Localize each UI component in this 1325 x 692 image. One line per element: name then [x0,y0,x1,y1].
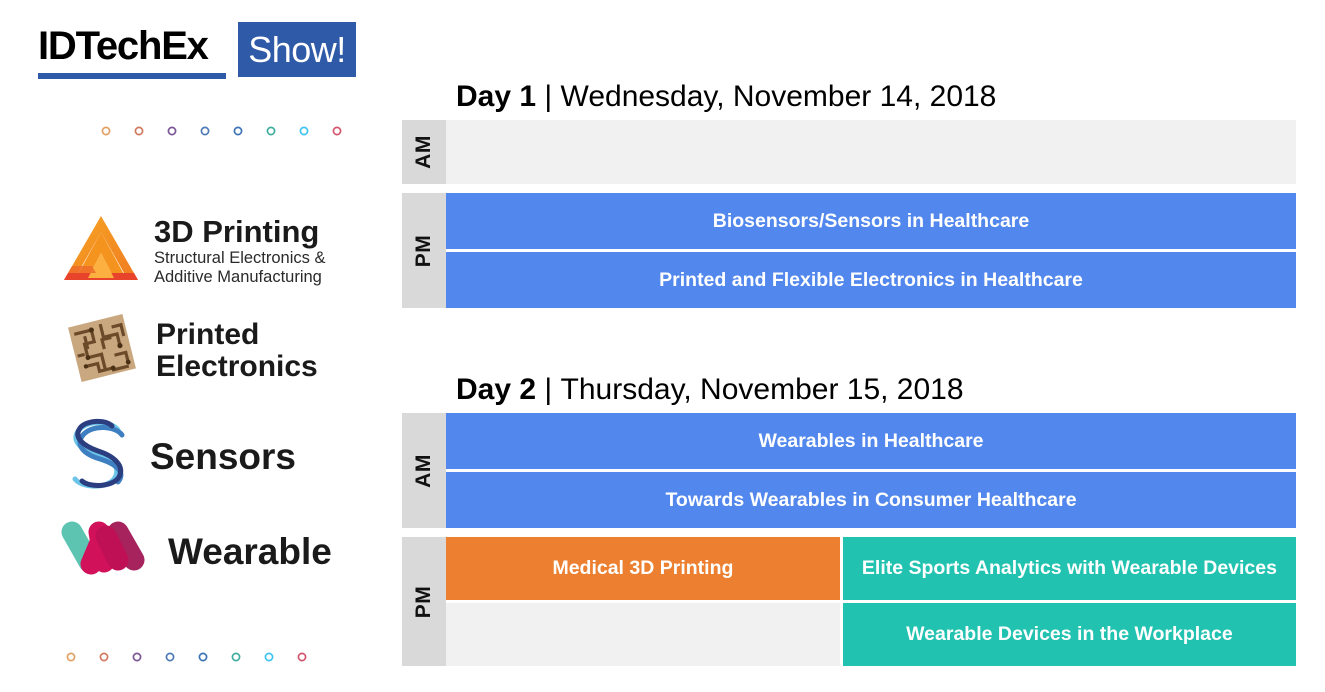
printed-electronics-title-line1: Printed [156,319,318,351]
sensors-title: Sensors [150,437,296,477]
timeline-decoration-top [33,124,363,138]
day-1-am-body [446,120,1296,184]
brand-wordmark: IDTechEx [38,20,208,72]
day-1-pm-label: PM [412,234,436,267]
day-2-period-am: AM Wearables in Healthcare Towards Weara… [402,413,1296,528]
day-1-am-label: AM [412,135,436,169]
session-wearables-in-healthcare[interactable]: Wearables in Healthcare [446,413,1296,469]
day-2-pm-label-cell: PM [402,537,446,666]
sidebar: IDTechEx Show! [0,0,392,692]
show-badge: Show! [238,22,356,77]
day-1-title: Day 1 | Wednesday, November 14, 2018 [456,80,996,114]
circuit-diamond-icon [62,310,142,391]
brand-underline-rule [38,73,226,79]
3d-printing-text: 3D Printing Structural Electronics & Add… [154,215,325,287]
layered-s-icon [62,414,136,499]
session-printed-and-flexible-electronics-in-healthcare[interactable]: Printed and Flexible Electronics in Heal… [446,252,1296,308]
3d-printing-subtitle-line1: Structural Electronics & [154,249,325,268]
sidebar-item-sensors[interactable]: Sensors [62,414,296,499]
timeline-decoration-bottom [33,650,363,664]
day-2-pm-body: Medical 3D Printing Elite Sports Analyti… [446,537,1296,666]
session-medical-3d-printing[interactable]: Medical 3D Printing [446,537,840,600]
day-1-period-pm: PM Biosensors/Sensors in Healthcare Prin… [402,193,1296,308]
w-strokes-icon [58,520,150,583]
day-2-date: Thursday, November 15, 2018 [561,373,964,406]
sidebar-item-3d-printing[interactable]: 3D Printing Structural Electronics & Add… [62,212,325,289]
3d-printing-title: 3D Printing [154,215,325,249]
day-1-period-am: AM [402,120,1296,184]
penrose-triangle-icon [62,212,140,289]
day-1-date: Wednesday, November 14, 2018 [561,80,997,113]
day-2-grid: AM Wearables in Healthcare Towards Weara… [402,413,1296,666]
day-2-am-label: AM [412,454,436,488]
printed-electronics-title-line2: Electronics [156,351,318,383]
wearable-title: Wearable [168,532,332,572]
day-1-row-gap [402,184,1296,193]
day-2-day-label: Day 2 [456,373,536,406]
day-2-pm-label: PM [412,585,436,618]
sidebar-item-wearable[interactable]: Wearable [58,520,332,583]
day-1-am-empty-slot [446,120,1296,184]
day-1-am-label-cell: AM [402,120,446,184]
day-1-pm-label-cell: PM [402,193,446,308]
sensors-text: Sensors [150,437,296,477]
day-2-am-body: Wearables in Healthcare Towards Wearable… [446,413,1296,528]
day-2-am-label-cell: AM [402,413,446,528]
3d-printing-subtitle-line2: Additive Manufacturing [154,268,325,287]
day-1-day-label: Day 1 [456,80,536,113]
show-badge-label: Show! [238,22,356,77]
wearable-text: Wearable [168,532,332,572]
session-wearable-devices-in-the-workplace[interactable]: Wearable Devices in the Workplace [843,603,1296,666]
day-2-period-pm: PM Medical 3D Printing Elite Sports Anal… [402,537,1296,666]
sidebar-item-printed-electronics[interactable]: Printed Electronics [62,310,318,391]
idtechex-logo: IDTechEx Show! [38,20,358,82]
day-2-title: Day 2 | Thursday, November 15, 2018 [456,373,964,407]
day-1-pm-body: Biosensors/Sensors in Healthcare Printed… [446,193,1296,308]
slide-root: IDTechEx Show! [0,0,1325,692]
session-elite-sports-analytics-with-wearable-devices[interactable]: Elite Sports Analytics with Wearable Dev… [843,537,1296,600]
day-2-pm-empty-slot [446,603,840,666]
session-towards-wearables-in-consumer-healthcare[interactable]: Towards Wearables in Consumer Healthcare [446,472,1296,528]
schedule-panel: Day 1 | Wednesday, November 14, 2018 AM [392,0,1325,692]
printed-electronics-text: Printed Electronics [156,319,318,383]
session-biosensors-sensors-in-healthcare[interactable]: Biosensors/Sensors in Healthcare [446,193,1296,249]
day-2-row-gap [402,528,1296,537]
day-1-grid: AM PM Biosensors [402,120,1296,308]
